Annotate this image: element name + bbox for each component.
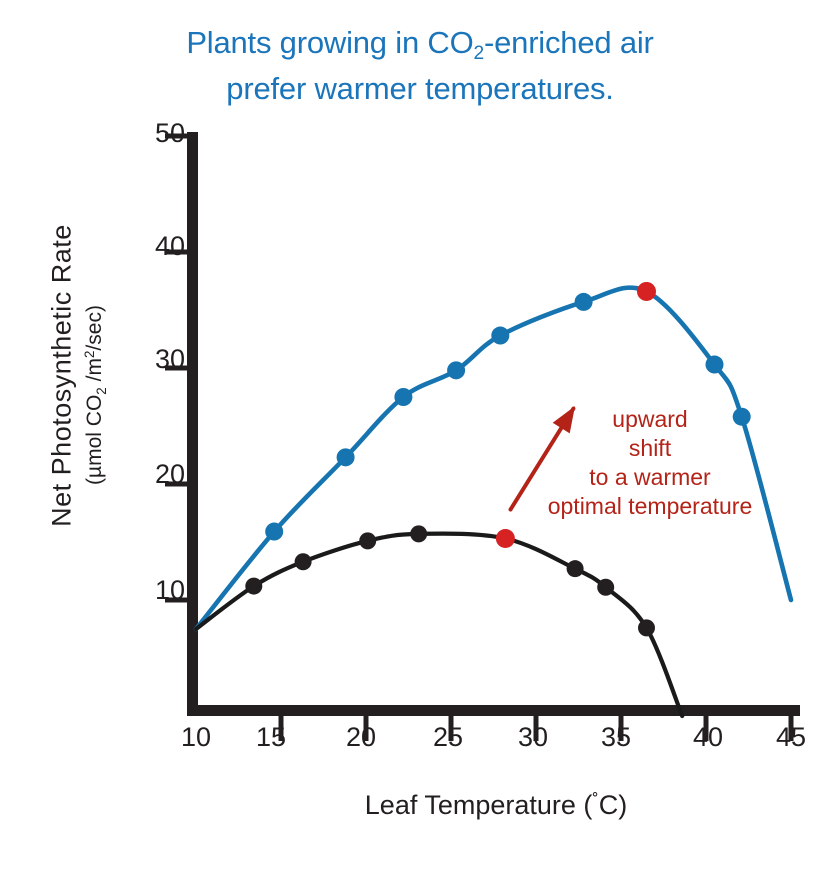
y-tick-50 (165, 134, 189, 139)
data-point-marker (638, 619, 655, 636)
plot-area (0, 0, 840, 869)
data-point-marker (706, 356, 724, 374)
y-tick-40 (165, 250, 189, 255)
x-tick-20 (364, 716, 369, 741)
data-point-marker (575, 293, 593, 311)
chart-figure: Plants growing in CO2-enriched air prefe… (0, 0, 840, 869)
y-tick-30 (165, 366, 189, 371)
data-point-marker (265, 523, 283, 541)
series-markers (245, 282, 750, 636)
series-line-1 (196, 534, 682, 716)
data-point-marker (447, 361, 465, 379)
x-tick-35 (619, 716, 624, 741)
x-tick-25 (449, 716, 454, 741)
optimum-point-marker (496, 529, 515, 548)
data-point-marker (410, 525, 427, 542)
x-tick-45 (789, 716, 794, 741)
arrow-head (553, 406, 575, 433)
data-point-marker (733, 408, 751, 426)
axes (165, 132, 800, 741)
x-tick-40 (704, 716, 709, 741)
y-tick-10 (165, 598, 189, 603)
data-point-marker (337, 448, 355, 466)
data-point-marker (567, 560, 584, 577)
data-point-marker (359, 532, 376, 549)
x-tick-15 (279, 716, 284, 741)
data-point-marker (491, 327, 509, 345)
series-lines (196, 288, 791, 716)
y-tick-20 (165, 482, 189, 487)
optimum-point-marker (637, 282, 656, 301)
x-tick-30 (534, 716, 539, 741)
data-point-marker (597, 579, 614, 596)
data-point-marker (394, 388, 412, 406)
data-point-marker (295, 553, 312, 570)
data-point-marker (245, 578, 262, 595)
x-axis-spine (187, 705, 800, 716)
annotation-arrow (511, 406, 576, 509)
